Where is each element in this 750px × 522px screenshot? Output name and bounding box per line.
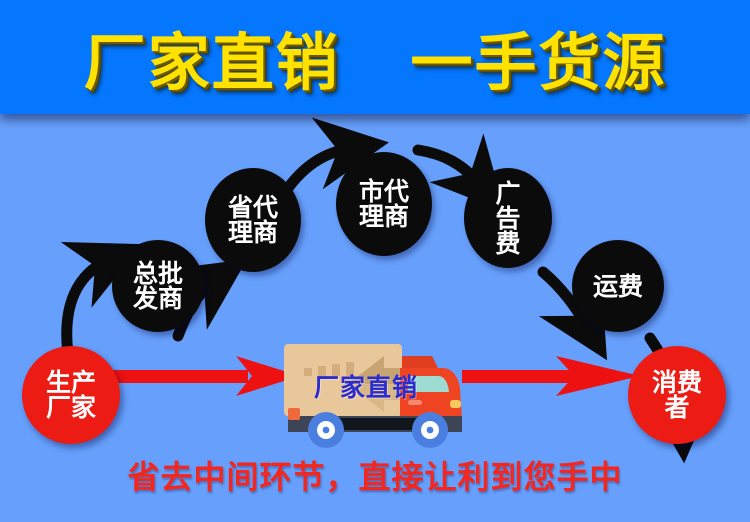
node-producer-label: 生产厂家 xyxy=(43,370,99,420)
banner-title: 厂家直销 一手货源 xyxy=(0,0,750,114)
node-shipping-fee[interactable]: 运费 xyxy=(572,240,664,332)
header-banner: 厂家直销 一手货源 xyxy=(0,0,750,114)
node-city-agent-label: 市代理商 xyxy=(356,179,412,229)
promo-poster: 厂家直销 一手货源 xyxy=(0,0,750,522)
node-shipping-fee-label: 运费 xyxy=(583,274,653,299)
truck-label: 厂家直销 xyxy=(286,368,446,404)
node-consumer-label: 消费者 xyxy=(649,370,705,420)
node-general-wholesaler[interactable]: 总批发商 xyxy=(112,240,204,332)
node-city-agent[interactable]: 市代理商 xyxy=(336,152,432,256)
footer-slogan: 省去中间环节，直接让利到您手中 xyxy=(0,452,750,498)
node-consumer[interactable]: 消费者 xyxy=(628,346,726,444)
node-provincial-agent[interactable]: 省代理商 xyxy=(205,168,301,272)
node-advertising-fee-label: 广告费 xyxy=(493,181,523,256)
node-advertising-fee[interactable]: 广告费 xyxy=(464,168,552,268)
node-producer[interactable]: 生产厂家 xyxy=(22,346,120,444)
node-provincial-agent-label: 省代理商 xyxy=(225,195,281,245)
curved-arrow-4 xyxy=(418,150,480,184)
node-general-wholesaler-label: 总批发商 xyxy=(130,261,186,311)
